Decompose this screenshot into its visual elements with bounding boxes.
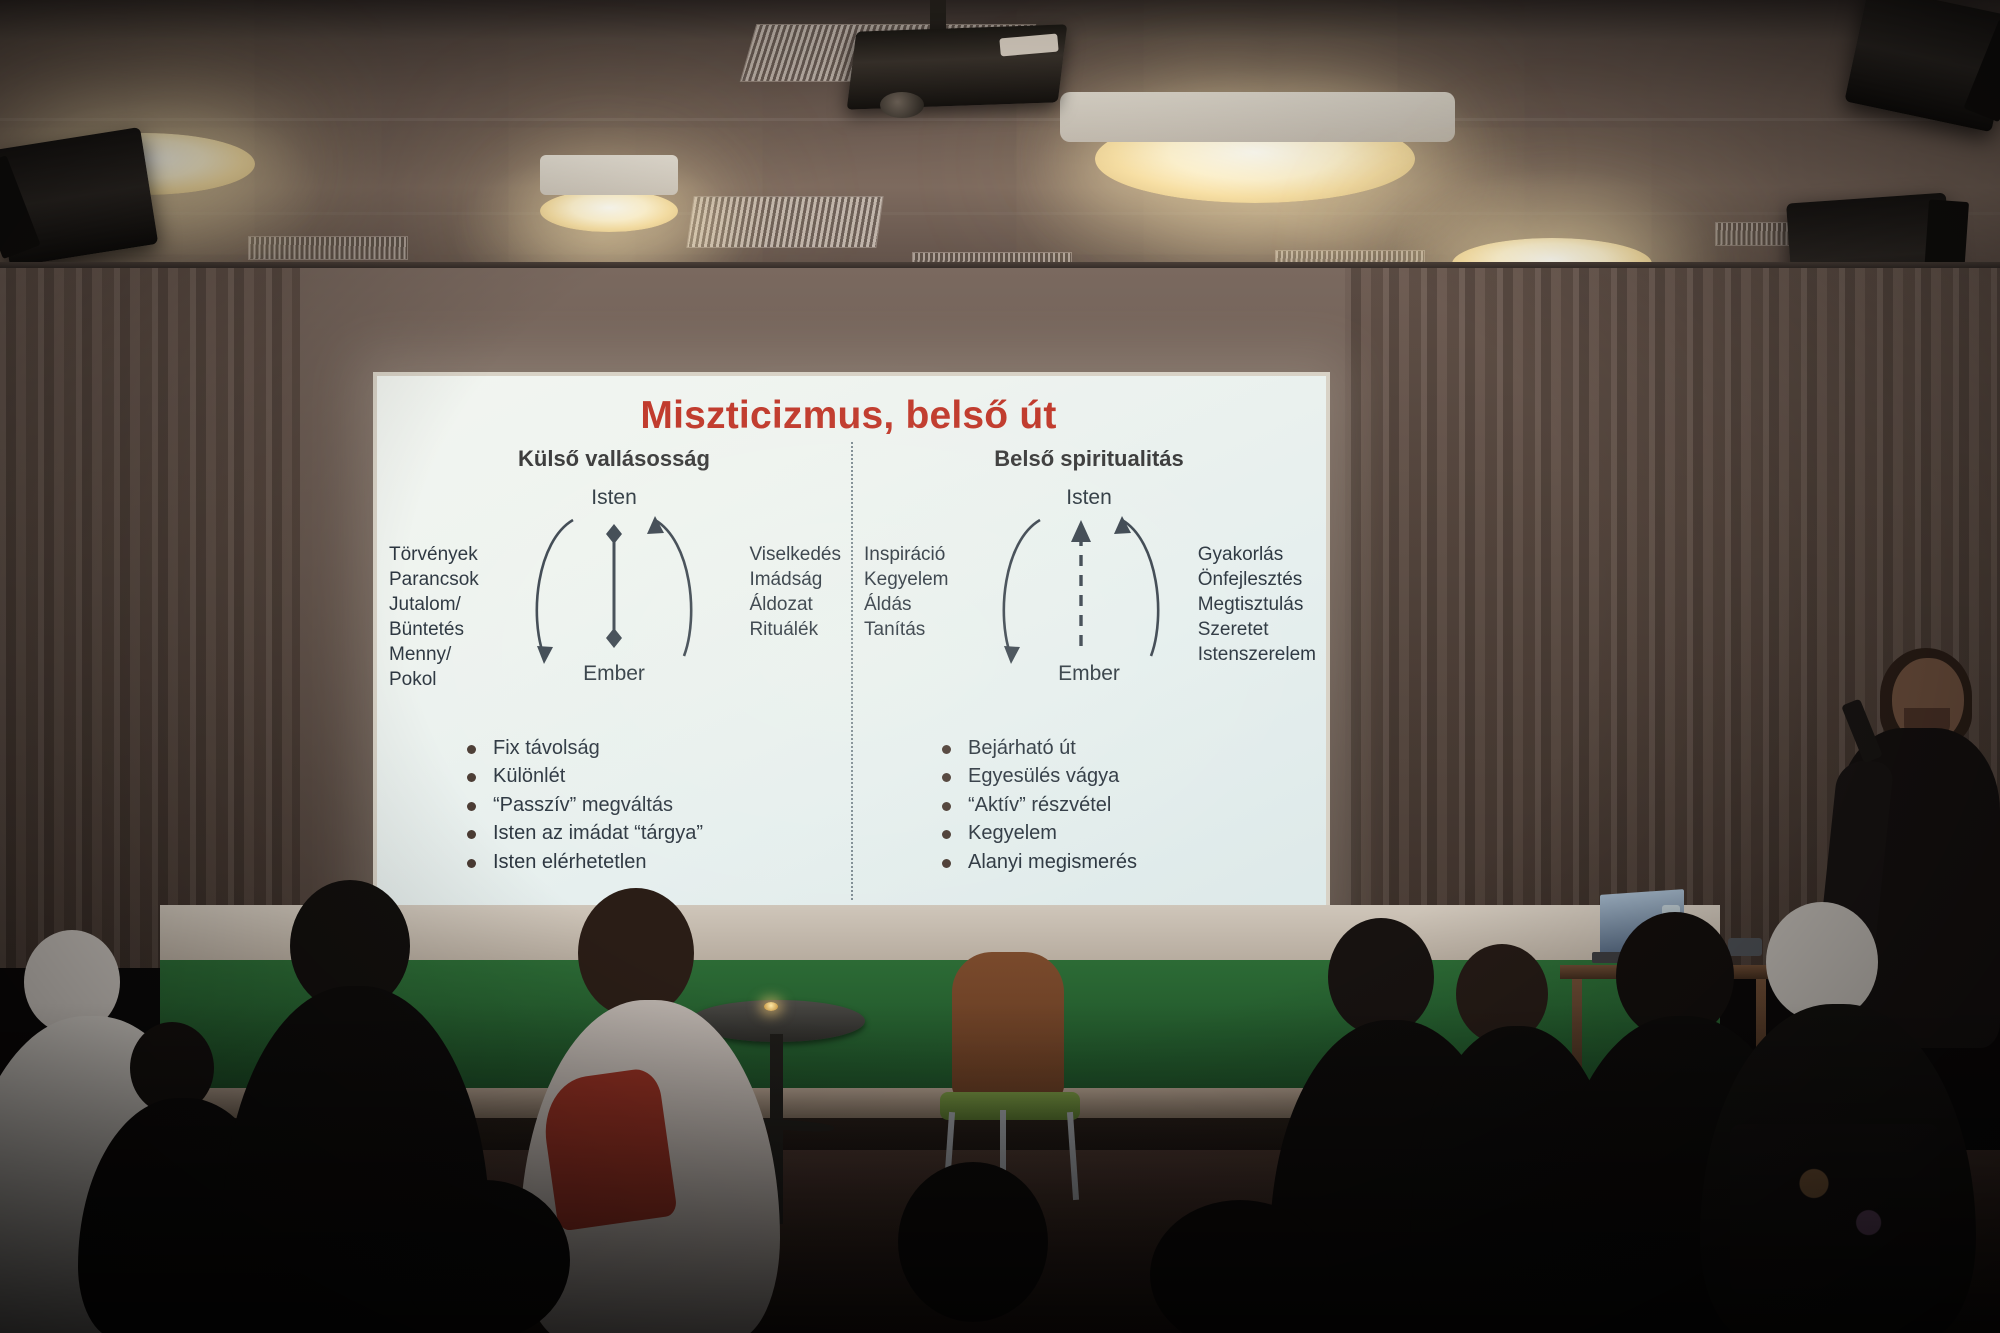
diagram-external: Isten Ember Törvények Parancsok Jutalom/… — [377, 486, 851, 686]
audience-head — [400, 1180, 570, 1333]
downlight-housing — [540, 155, 678, 195]
list-item: Bejárható út — [938, 734, 1137, 762]
audience-head — [1328, 918, 1434, 1036]
bullet-list-internal: Bejárható út Egyesülés vágya “Aktív” rés… — [938, 734, 1137, 876]
terms-right-internal: Gyakorlás Önfejlesztés Megtisztulás Szer… — [1198, 542, 1316, 667]
list-item: “Passzív” megváltás — [463, 791, 703, 819]
stage-light-left-icon — [0, 127, 158, 267]
slide-column-internal: Belső spiritualitás Isten Ember Inspirác… — [852, 446, 1326, 916]
audience-head — [898, 1162, 1048, 1322]
chair-back — [952, 952, 1064, 1100]
list-item: Fix távolság — [463, 734, 703, 762]
slide-title-text: Miszticizmus, belső út — [640, 394, 1056, 438]
list-item: Isten elérhetetlen — [463, 848, 703, 876]
downlight-housing — [1060, 92, 1455, 142]
ceiling-seam — [0, 118, 2000, 121]
bullet-list-external: Fix távolság Különlét “Passzív” megváltá… — [463, 734, 703, 876]
list-item: “Aktív” részvétel — [938, 791, 1137, 819]
column-heading-external: Külső vallásosság — [377, 446, 851, 472]
slide-content: Miszticizmus, belső út Külső vallásosság… — [377, 376, 1326, 928]
audience-scarf — [538, 1066, 678, 1231]
ceiling-seam — [0, 212, 2000, 215]
column-heading-internal: Belső spiritualitás — [852, 446, 1326, 472]
list-item: Kegyelem — [938, 819, 1137, 847]
slide-column-external: Külső vallásosság Isten Ember Törvények … — [377, 446, 851, 916]
list-item: Egyesülés vágya — [938, 762, 1137, 790]
curtain-left — [0, 268, 300, 968]
device-box — [1728, 938, 1762, 956]
slide-title: Miszticizmus, belső út — [377, 394, 1326, 438]
projector-lens-icon — [880, 92, 924, 118]
ceiling-vent-icon — [248, 236, 408, 260]
terms-left-internal: Inspiráció Kegyelem Áldás Tanítás — [864, 542, 949, 642]
downlight-center — [540, 190, 678, 232]
ceiling-vent-icon — [686, 196, 883, 248]
audience-jacket-pattern — [1730, 1124, 1940, 1294]
list-item: Alanyi megismerés — [938, 848, 1137, 876]
lecture-hall-photo: Miszticizmus, belső út Külső vallásosság… — [0, 0, 2000, 1333]
candle-icon — [764, 1002, 778, 1011]
audience-head — [578, 888, 694, 1018]
diagram-internal: Isten Ember Inspiráció Kegyelem Áldás Ta… — [852, 486, 1326, 686]
list-item: Isten az imádat “tárgya” — [463, 819, 703, 847]
terms-right-external: Viselkedés Imádság Áldozat Rituálék — [749, 542, 841, 642]
terms-left-external: Törvények Parancsok Jutalom/ Büntetés Me… — [389, 542, 479, 692]
chair-seat — [940, 1092, 1080, 1120]
list-item: Különlét — [463, 762, 703, 790]
